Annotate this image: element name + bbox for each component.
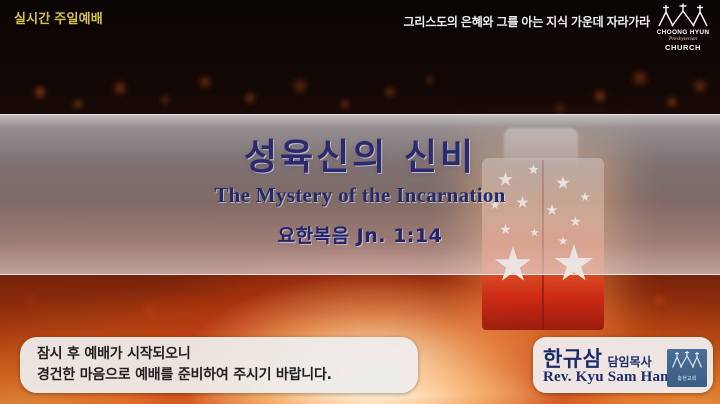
sermon-title-korean: 성육신의 신비 [0, 139, 720, 177]
plate-logo-text: 충현교회 [667, 375, 707, 382]
church-crown-icon [658, 3, 708, 28]
header-bar: 실시간 주일예배 그리스도의 은혜와 그를 아는 지식 가운데 자라가라 CHO… [0, 0, 720, 58]
speaker-title-korean: 담임목사 [607, 353, 651, 370]
sermon-title-english: The Mystery of the Incarnation [0, 183, 720, 208]
service-notice-box: 잠시 후 예배가 시작되오니 경건한 마음으로 예배를 준비하여 주시기 바랍니… [20, 337, 418, 393]
church-tagline: 그리스도의 은혜와 그를 아는 지식 가운데 자라가라 [388, 13, 650, 30]
broadcast-screen: 실시간 주일예배 그리스도의 은혜와 그를 아는 지식 가운데 자라가라 CHO… [0, 0, 720, 404]
live-service-label: 실시간 주일예배 [14, 8, 103, 27]
church-logo-church: CHURCH [654, 43, 712, 52]
sermon-title-group: 성육신의 신비 The Mystery of the Incarnation 요… [0, 115, 720, 248]
church-logo: CHOONG HYUN Presbyterian CHURCH [654, 3, 712, 53]
speaker-name-plate: 한규삼 담임목사 Rev. Kyu Sam Han 충현교회 [533, 337, 713, 393]
notice-line-2: 경건한 마음으로 예배를 준비하여 주시기 바랍니다. [37, 365, 418, 386]
church-mountain-icon [672, 351, 702, 369]
notice-line-1: 잠시 후 예배가 시작되오니 [37, 344, 418, 365]
speaker-name-english: Rev. Kyu Sam Han [543, 369, 669, 386]
sermon-scripture-reference: 요한복음 Jn. 1:14 [0, 221, 720, 248]
plate-church-logo: 충현교회 [667, 349, 707, 387]
sermon-title-banner: 성육신의 신비 The Mystery of the Incarnation 요… [0, 114, 720, 275]
